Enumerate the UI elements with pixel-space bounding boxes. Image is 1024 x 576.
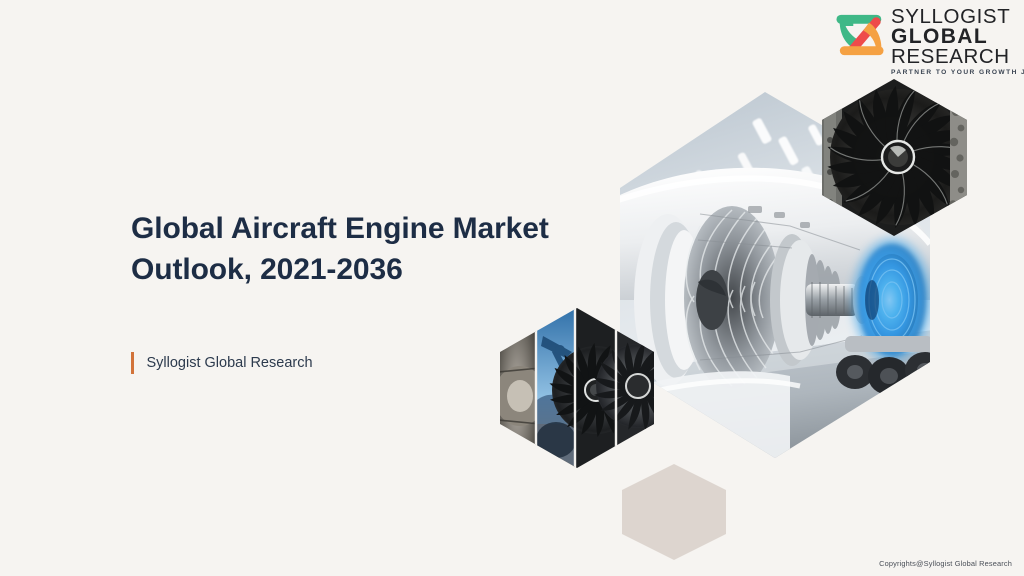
decorative-hexagon	[622, 464, 726, 560]
logo-line-syllogist: SYLLOGIST	[891, 7, 1024, 27]
engine-collage-hexagon	[494, 300, 682, 476]
copyright-notice: Copyrights@Syllogist Global Research	[879, 559, 1012, 568]
logo-line-global: GLOBAL	[891, 27, 1024, 47]
company-logo: SYLLOGIST GLOBAL RESEARCH PARTNER TO YOU…	[832, 6, 1018, 76]
syllogist-sigma-mark-icon	[832, 7, 888, 63]
subtitle-block: Syllogist Global Research	[131, 352, 327, 374]
turbofan-fan-hexagon	[820, 77, 970, 239]
subtitle-text: Syllogist Global Research	[147, 352, 327, 374]
presentation-slide: SYLLOGIST GLOBAL RESEARCH PARTNER TO YOU…	[0, 0, 1024, 576]
logo-tagline: PARTNER TO YOUR GROWTH JOURNEY	[891, 69, 1024, 76]
jet-engine-cutaway-hexagon	[618, 90, 945, 462]
logo-line-research: RESEARCH	[891, 47, 1024, 67]
page-title: Global Aircraft Engine Market Outlook, 2…	[131, 208, 601, 291]
logo-text-block: SYLLOGIST GLOBAL RESEARCH PARTNER TO YOU…	[891, 6, 1024, 76]
subtitle-accent-bar	[131, 352, 134, 374]
